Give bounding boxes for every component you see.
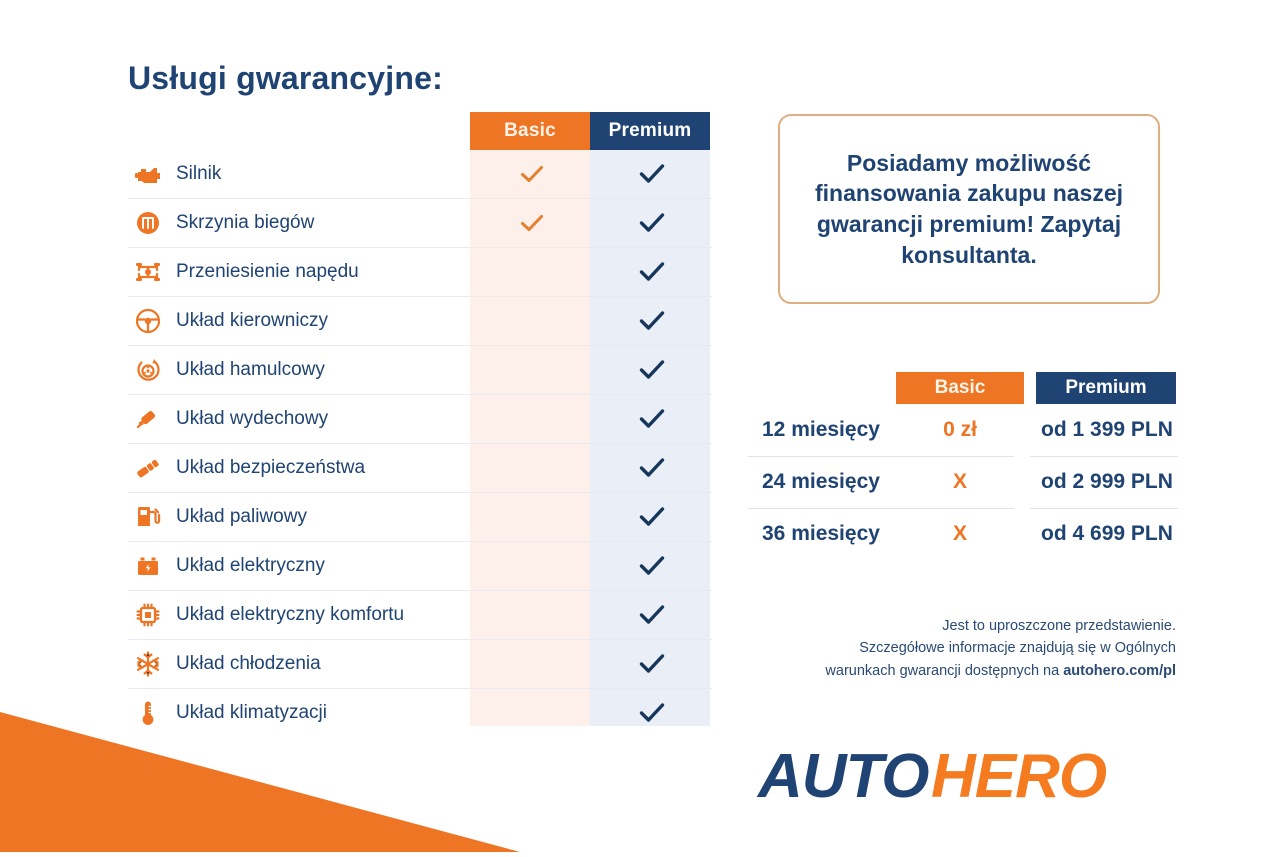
disclaimer-line-2: Szczegółowe informacje znajdują się w Og…	[740, 637, 1176, 659]
feature-premium-cell	[592, 493, 712, 541]
disclaimer-line-3-prefix: warunkach gwarancji dostępnych na	[825, 663, 1063, 679]
feature-label: Skrzynia biegów	[168, 212, 472, 234]
autohero-website-link[interactable]: autohero.com/pl	[1063, 663, 1176, 679]
feature-basic-cell	[472, 542, 592, 590]
feature-label: Układ bezpieczeństwa	[168, 457, 472, 479]
seatbelt-icon	[128, 453, 168, 483]
steering-wheel-icon	[128, 306, 168, 336]
check-icon	[520, 213, 544, 233]
fuel-pump-icon	[128, 502, 168, 532]
disclaimer-line-1: Jest to uproszczone przedstawienie.	[740, 615, 1176, 637]
chip-icon	[128, 600, 168, 630]
brake-disc-icon	[128, 355, 168, 385]
feature-row: Układ hamulcowy	[128, 346, 712, 395]
exhaust-icon	[128, 404, 168, 434]
pricing-table: Basic Premium 12 miesięcy0 złod 1 399 PL…	[748, 372, 1178, 560]
feature-row: Skrzynia biegów	[128, 199, 712, 248]
check-icon	[520, 164, 544, 184]
feature-premium-cell	[592, 199, 712, 247]
check-icon	[639, 653, 665, 675]
check-icon	[639, 212, 665, 234]
pricing-header-basic: Basic	[896, 372, 1024, 404]
pricing-premium-value: od 2 999 PLN	[1032, 456, 1182, 508]
disclaimer-text: Jest to uproszczone przedstawienie. Szcz…	[740, 615, 1180, 682]
pricing-row: 12 miesięcy0 złod 1 399 PLN	[748, 404, 1178, 456]
battery-icon	[128, 551, 168, 581]
pricing-premium-value: od 4 699 PLN	[1032, 508, 1182, 560]
pricing-premium-value: od 1 399 PLN	[1032, 404, 1182, 456]
gearbox-icon	[128, 208, 168, 238]
pricing-basic-value: X	[896, 456, 1024, 508]
snowflake-icon	[128, 649, 168, 679]
feature-premium-cell	[592, 395, 712, 443]
feature-label: Układ hamulcowy	[168, 359, 472, 381]
feature-label: Układ elektryczny komfortu	[168, 604, 472, 626]
feature-row: Silnik	[128, 150, 712, 199]
infographic-page: Basic Premium SilnikSkrzynia biegówPrzen…	[0, 0, 1280, 852]
logo-text-hero: HERO	[931, 742, 1107, 811]
feature-basic-cell	[472, 199, 592, 247]
check-icon	[639, 555, 665, 577]
feature-premium-cell	[592, 248, 712, 296]
feature-premium-cell	[592, 150, 712, 198]
feature-premium-cell	[592, 542, 712, 590]
pricing-row: 24 miesięcyXod 2 999 PLN	[748, 456, 1178, 508]
check-icon	[639, 457, 665, 479]
drivetrain-icon	[128, 257, 168, 287]
check-icon	[639, 506, 665, 528]
page-title: Usługi gwarancyjne:	[128, 60, 443, 97]
feature-row: Układ chłodzenia	[128, 640, 712, 689]
feature-label: Układ paliwowy	[168, 506, 472, 528]
feature-label: Silnik	[168, 163, 472, 185]
pricing-rows: 12 miesięcy0 złod 1 399 PLN24 miesięcyXo…	[748, 404, 1178, 560]
feature-premium-cell	[592, 444, 712, 492]
feature-row: Układ klimatyzacji	[128, 689, 712, 737]
feature-basic-cell	[472, 346, 592, 394]
check-icon	[639, 163, 665, 185]
check-icon	[639, 408, 665, 430]
feature-premium-cell	[592, 297, 712, 345]
check-icon	[639, 702, 665, 724]
features-rows: SilnikSkrzynia biegówPrzeniesienie napęd…	[128, 150, 712, 737]
feature-premium-cell	[592, 689, 712, 737]
thermometer-icon	[128, 698, 168, 728]
engine-icon	[128, 159, 168, 189]
feature-label: Układ klimatyzacji	[168, 702, 472, 724]
check-icon	[639, 310, 665, 332]
features-table-header: Basic Premium	[470, 112, 710, 150]
feature-premium-cell	[592, 591, 712, 639]
feature-row: Układ elektryczny	[128, 542, 712, 591]
feature-basic-cell	[472, 689, 592, 737]
financing-callout-box: Posiadamy możliwość finansowania zakupu …	[778, 114, 1160, 304]
feature-row: Układ paliwowy	[128, 493, 712, 542]
right-panel: Posiadamy możliwość finansowania zakupu …	[740, 0, 1280, 852]
pricing-header-premium: Premium	[1036, 372, 1176, 404]
pricing-table-header: Basic Premium	[748, 372, 1178, 404]
pricing-term: 12 miesięcy	[762, 404, 902, 456]
check-icon	[639, 261, 665, 283]
logo-text-auto: AUTO	[756, 742, 929, 811]
feature-basic-cell	[472, 248, 592, 296]
feature-label: Układ chłodzenia	[168, 653, 472, 675]
feature-basic-cell	[472, 395, 592, 443]
feature-basic-cell	[472, 640, 592, 688]
feature-row: Układ kierowniczy	[128, 297, 712, 346]
pricing-basic-value: 0 zł	[896, 404, 1024, 456]
feature-basic-cell	[472, 493, 592, 541]
warranty-features-table: Basic Premium SilnikSkrzynia biegówPrzen…	[128, 112, 712, 737]
features-header-basic: Basic	[470, 112, 590, 150]
pricing-term: 24 miesięcy	[762, 456, 902, 508]
feature-premium-cell	[592, 640, 712, 688]
feature-premium-cell	[592, 346, 712, 394]
feature-label: Układ kierowniczy	[168, 310, 472, 332]
feature-label: Przeniesienie napędu	[168, 261, 472, 283]
feature-row: Układ bezpieczeństwa	[128, 444, 712, 493]
feature-label: Układ elektryczny	[168, 555, 472, 577]
pricing-term: 36 miesięcy	[762, 508, 902, 560]
check-icon	[639, 359, 665, 381]
feature-row: Układ elektryczny komfortu	[128, 591, 712, 640]
feature-label: Układ wydechowy	[168, 408, 472, 430]
feature-row: Układ wydechowy	[128, 395, 712, 444]
autohero-logo: AUTO HERO	[756, 742, 1176, 812]
feature-basic-cell	[472, 150, 592, 198]
feature-basic-cell	[472, 444, 592, 492]
pricing-row: 36 miesięcyXod 4 699 PLN	[748, 508, 1178, 560]
features-header-premium: Premium	[590, 112, 710, 150]
feature-row: Przeniesienie napędu	[128, 248, 712, 297]
financing-callout-text: Posiadamy możliwość finansowania zakupu …	[780, 148, 1158, 270]
feature-basic-cell	[472, 591, 592, 639]
pricing-basic-value: X	[896, 508, 1024, 560]
feature-basic-cell	[472, 297, 592, 345]
check-icon	[639, 604, 665, 626]
disclaimer-line-3: warunkach gwarancji dostępnych na autohe…	[740, 660, 1176, 682]
